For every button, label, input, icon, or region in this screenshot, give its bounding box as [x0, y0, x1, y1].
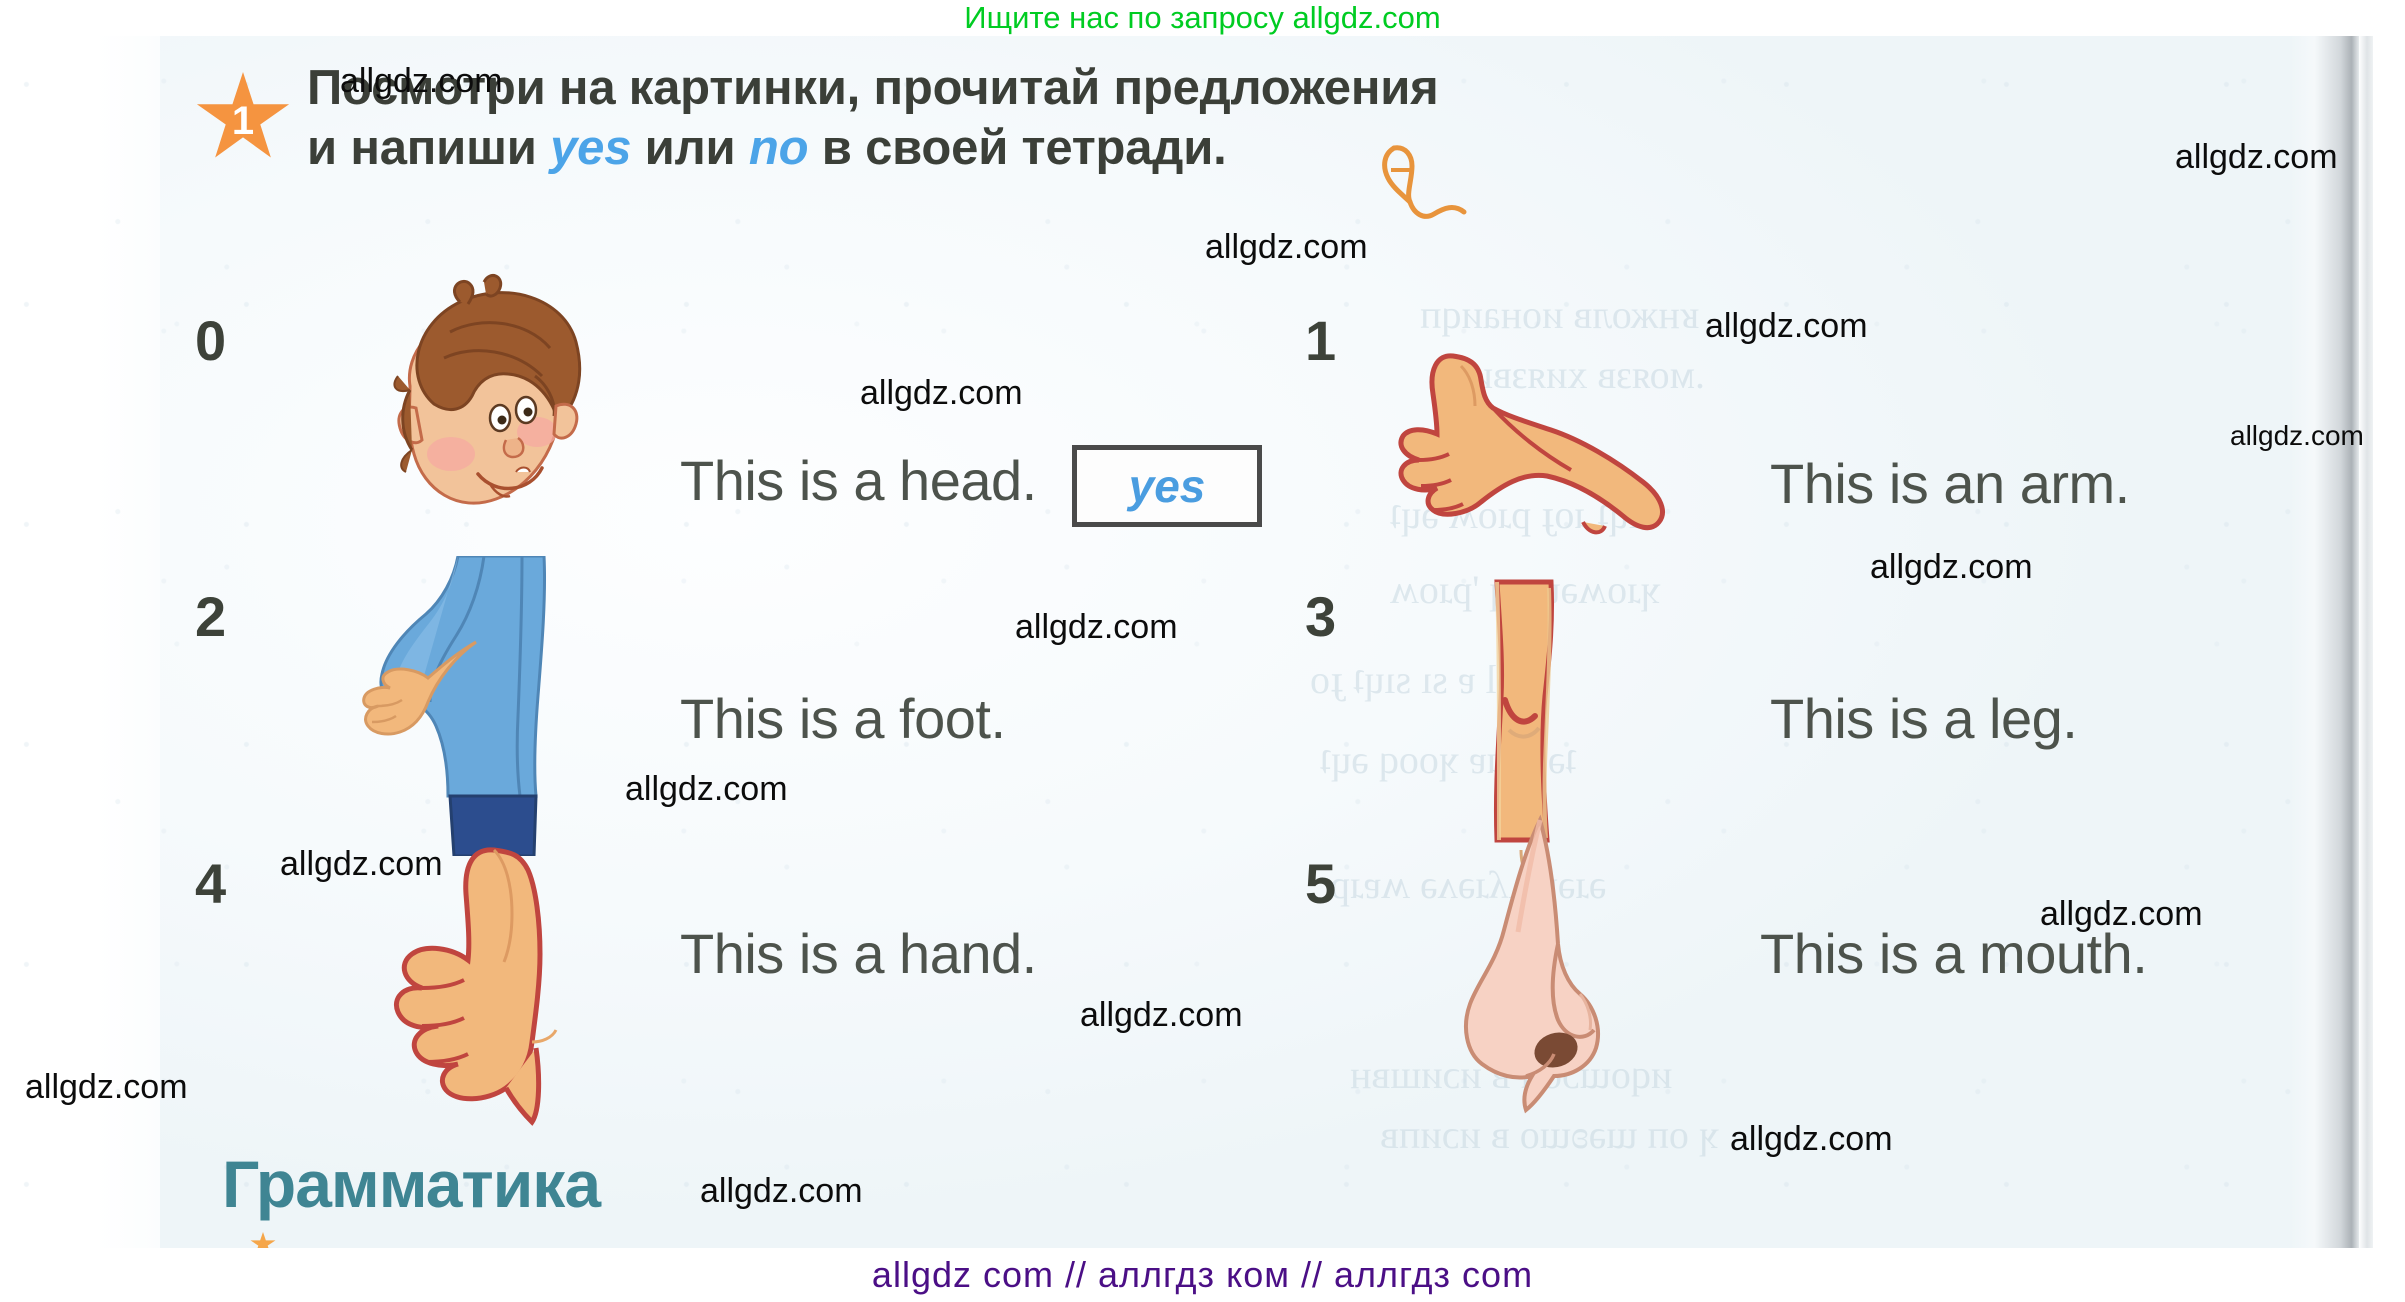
item-number-1: 1 — [1305, 308, 1336, 373]
page-showthrough-text: ʞ оп ɯǝʚɯо в иɔипв — [1380, 1111, 1719, 1158]
task-instruction-line2-b: или — [631, 121, 749, 175]
nose-picture — [1430, 814, 1640, 1114]
page-showthrough-text: ʁнжолв ионаиqп — [1420, 291, 1699, 338]
item-number-4: 4 — [195, 851, 226, 916]
keyword-yes: yes — [550, 121, 631, 175]
item-number-3: 3 — [1305, 584, 1336, 649]
task-instruction: Посмотри на картинки, прочитай предложен… — [307, 58, 1527, 178]
keyword-no: no — [749, 121, 808, 175]
bottom-promo-banner: allgdz com // аллгдз ком // аллгдз com — [0, 1248, 2405, 1302]
top-promo-banner: Ищите нас по запросу allgdz.com — [0, 0, 2405, 36]
grammar-star-icon — [250, 1232, 276, 1248]
item-number-5: 5 — [1305, 851, 1336, 916]
item-number-0: 0 — [195, 308, 226, 373]
grammar-section-title: Грамматика — [222, 1146, 600, 1222]
task-instruction-line2-a: и напиши — [307, 121, 550, 175]
task-instruction-line1: Посмотри на картинки, прочитай предложен… — [307, 61, 1439, 115]
boy-head-picture — [350, 258, 610, 538]
sentence-4: This is a hand. — [680, 921, 1037, 986]
item-number-2: 2 — [195, 584, 226, 649]
answer-value-0: yes — [1129, 459, 1206, 513]
sentence-3: This is a leg. — [1770, 686, 2077, 751]
book-gutter-shadow — [2290, 36, 2360, 1248]
body-torso-picture — [330, 556, 590, 856]
arm-picture — [1375, 336, 1705, 556]
task-instruction-line2-c: в своей тетради. — [808, 121, 1226, 175]
answer-box-0[interactable]: yes — [1072, 445, 1262, 527]
hand-picture — [360, 836, 610, 1126]
sentence-5: This is a mouth. — [1760, 921, 2147, 986]
sentence-1: This is an arm. — [1770, 451, 2130, 516]
scanned-textbook-page: ʁнжолв ионаиqп .моязв хиязвиqп ɔiɥʇ ɹoɟ … — [0, 36, 2405, 1248]
pencil-doodle-icon — [1378, 140, 1488, 232]
right-white-margin — [2373, 36, 2405, 1248]
sentence-2: This is a foot. — [680, 686, 1006, 751]
task-number: 1 — [195, 72, 291, 164]
sentence-0: This is a head. — [680, 448, 1037, 513]
